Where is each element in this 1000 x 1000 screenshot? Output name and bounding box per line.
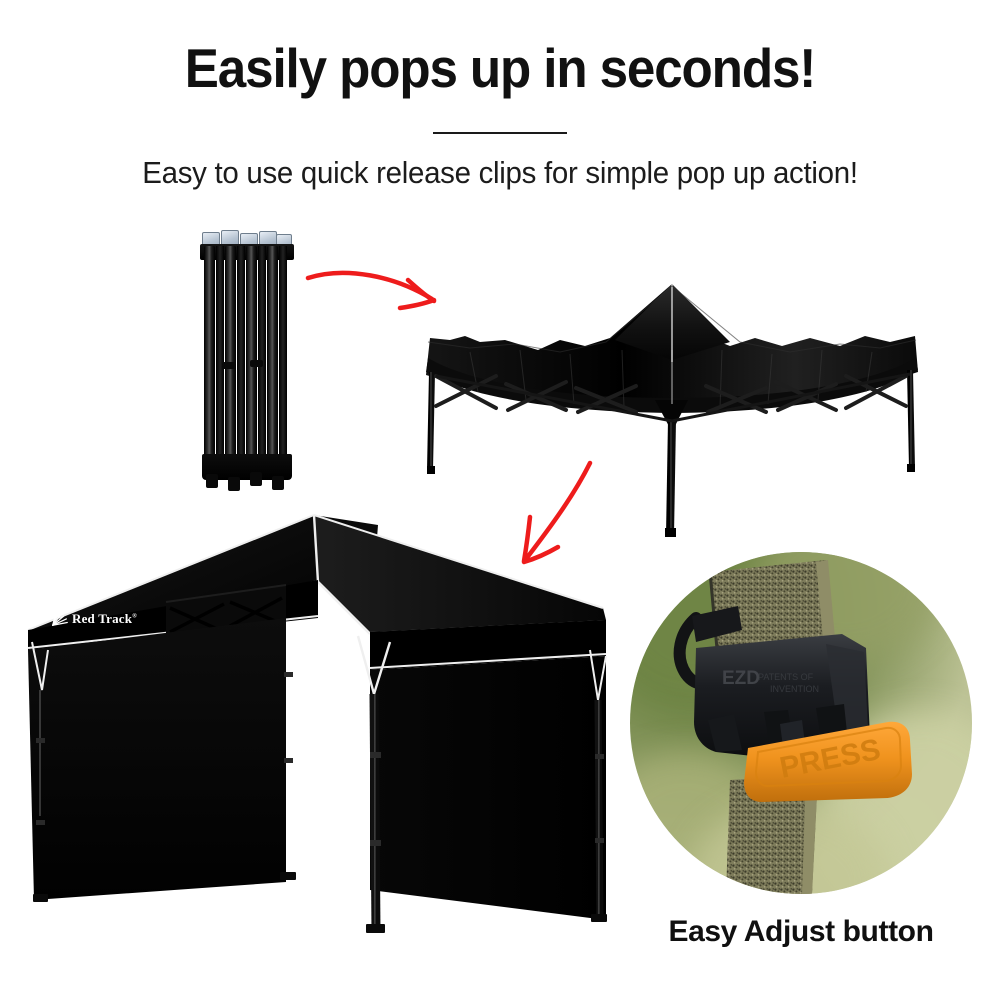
folded-gazebo-frame — [198, 232, 296, 484]
page-subtitle: Easy to use quick release clips for simp… — [25, 155, 975, 191]
svg-text:INVENTION: INVENTION — [770, 684, 819, 694]
infographic-page: Easily pops up in seconds! Easy to use q… — [0, 0, 1000, 1000]
clip-brand-text: EZD — [722, 668, 760, 689]
page-title: Easily pops up in seconds! — [35, 36, 965, 100]
title-divider — [433, 132, 567, 134]
assembled-gazebo-with-sidewalls — [18, 490, 663, 960]
svg-text:PATENTS OF: PATENTS OF — [758, 672, 814, 682]
easy-adjust-button-photo: EZD PATENTS OF INVENTION PRESS — [630, 552, 972, 894]
brand-logo-text: Red Track® — [72, 611, 137, 627]
brand-logo: Red Track® — [50, 600, 146, 640]
sunburst-icon — [50, 608, 70, 628]
inset-caption: Easy Adjust button — [620, 915, 982, 949]
